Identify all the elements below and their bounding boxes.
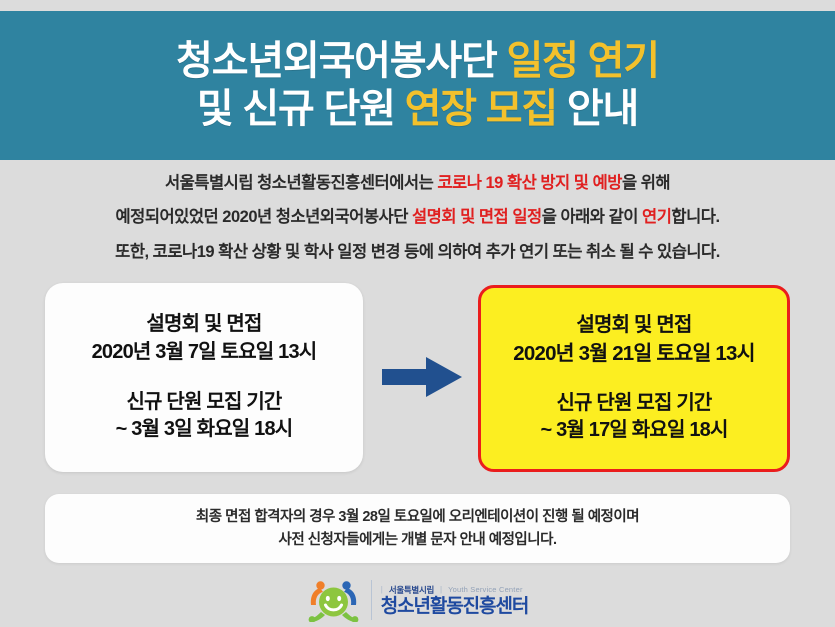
logo-english-subtitle: Youth Service Center — [448, 585, 523, 594]
new-recruit-period: ~ 3월 17일 화요일 18시 — [540, 417, 727, 445]
old-recruit-period: ~ 3월 3일 화요일 18시 — [116, 416, 293, 444]
intro-line-1: 서울특별시립 청소년활동진흥센터에서는 코로나 19 확산 방지 및 예방을 위… — [0, 166, 835, 200]
new-schedule-date: 2020년 3월 21일 토요일 13시 — [513, 340, 754, 368]
intro-line-2-highlight: 설명회 및 면접 일정 — [412, 208, 542, 226]
logo-text-block: | 서울특별시립 | Youth Service Center 청소년활동진흥센… — [371, 580, 528, 620]
logo-organization-name: 청소년활동진흥센터 — [381, 597, 528, 617]
organization-logo: | 서울특별시립 | Youth Service Center 청소년활동진흥센… — [0, 574, 835, 626]
header-title-accent-1: 일정 연기 — [507, 39, 659, 83]
footer-notice-box: 최종 면접 합격자의 경우 3월 28일 토요일에 오리엔테이션이 진행 될 예… — [45, 494, 790, 563]
intro-line-2: 예정되어있었던 2020년 청소년외국어봉사단 설명회 및 면접 일정을 아래와… — [0, 200, 835, 234]
youth-center-logo-icon — [307, 578, 361, 622]
intro-line-2-plain-c: 합니다. — [671, 208, 719, 226]
right-arrow-icon — [382, 355, 462, 399]
intro-paragraph-block: 서울특별시립 청소년활동진흥센터에서는 코로나 19 확산 방지 및 예방을 위… — [0, 166, 835, 269]
old-schedule-date: 2020년 3월 7일 토요일 13시 — [92, 339, 317, 367]
logo-divider-right: | — [440, 586, 442, 594]
footer-notice-line-2: 사전 신청자들에게는 개별 문자 안내 예정입니다. — [279, 529, 557, 551]
new-recruit-title: 신규 단원 모집 기간 — [556, 390, 711, 418]
header-title-plain-2b: 안내 — [567, 87, 638, 131]
header-title-line-1: 청소년외국어봉사단 일정 연기 — [176, 38, 659, 85]
footer-notice-line-1: 최종 면접 합격자의 경우 3월 28일 토요일에 오리엔테이션이 진행 될 예… — [196, 506, 639, 528]
poster-root: 청소년외국어봉사단 일정 연기 및 신규 단원 연장 모집 안내 서울특별시립 … — [0, 0, 835, 626]
header-title-line-2: 및 신규 단원 연장 모집 안내 — [197, 86, 638, 133]
intro-line-2-plain-a: 예정되어있었던 2020년 청소년외국어봉사단 — [115, 208, 407, 226]
header-title-plain-1: 청소년외국어봉사단 — [176, 39, 496, 83]
header-title-plain-2a: 및 신규 단원 — [197, 87, 395, 131]
intro-line-3: 또한, 코로나19 확산 상황 및 학사 일정 변경 등에 의하여 추가 연기 … — [0, 235, 835, 269]
logo-subtitle-row: | 서울특별시립 | Youth Service Center — [381, 584, 528, 596]
old-recruit-title: 신규 단원 모집 기간 — [126, 389, 281, 417]
intro-line-2-plain-b: 을 아래와 같이 — [542, 208, 638, 226]
old-schedule-box: 설명회 및 면접 2020년 3월 7일 토요일 13시 신규 단원 모집 기간… — [45, 283, 363, 472]
logo-korean-subtitle: 서울특별시립 — [389, 584, 434, 596]
intro-line-1-highlight: 코로나 19 확산 방지 및 예방 — [437, 174, 622, 192]
header-title-accent-2: 연장 모집 — [405, 87, 557, 131]
header-banner: 청소년외국어봉사단 일정 연기 및 신규 단원 연장 모집 안내 — [0, 11, 835, 160]
new-schedule-title: 설명회 및 면접 — [576, 312, 691, 340]
old-schedule-title: 설명회 및 면접 — [146, 311, 261, 339]
intro-line-2-highlight-2: 연기 — [642, 208, 671, 226]
intro-line-1-plain-b: 을 위해 — [622, 174, 670, 192]
intro-line-1-plain-a: 서울특별시립 청소년활동진흥센터에서는 — [165, 174, 433, 192]
new-schedule-box: 설명회 및 면접 2020년 3월 21일 토요일 13시 신규 단원 모집 기… — [478, 285, 790, 472]
logo-divider-left: | — [381, 586, 383, 594]
